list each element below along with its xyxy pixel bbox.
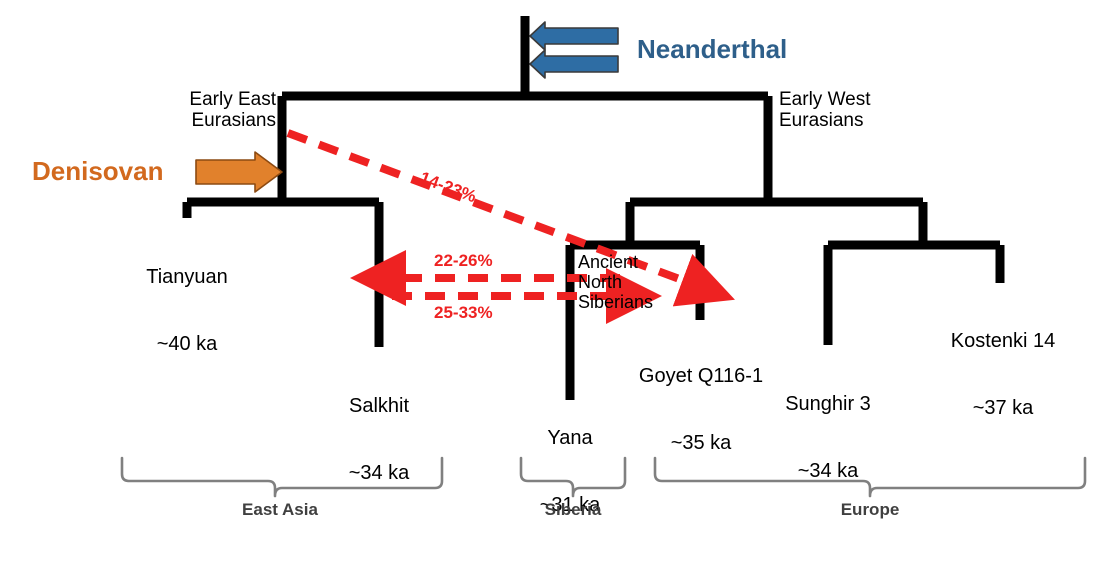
denisovan-arrow-icon: [196, 152, 282, 192]
denisovan-label: Denisovan: [32, 157, 164, 186]
admixture-value-salkhit-to-ans: 25-33%: [434, 303, 493, 322]
admixture-value-ans-to-salkhit: 22-26%: [434, 251, 493, 270]
tip-age-goyet: ~35 ka: [625, 432, 777, 454]
tip-age-kostenki: ~37 ka: [932, 397, 1074, 419]
phylogenetic-tree-figure: Early EastEurasians Early WestEurasians …: [0, 0, 1102, 543]
tip-name-salkhit: Salkhit: [313, 395, 445, 417]
neanderthal-label: Neanderthal: [637, 35, 787, 64]
tip-age-salkhit: ~34 ka: [313, 462, 445, 484]
region-label-east-asia: East Asia: [215, 500, 345, 519]
tip-name-kostenki: Kostenki 14: [932, 330, 1074, 352]
tip-label-yana: Yana ~31 ka: [504, 382, 636, 561]
tree-branches: [187, 16, 1000, 400]
tip-name-tianyuan: Tianyuan: [121, 266, 253, 288]
tip-age-tianyuan: ~40 ka: [121, 333, 253, 355]
tip-name-sunghir: Sunghir 3: [762, 393, 894, 415]
tip-name-yana: Yana: [504, 427, 636, 449]
region-label-europe: Europe: [810, 500, 930, 519]
node-label-early-west-eurasians: Early WestEurasians: [779, 89, 909, 132]
node-label-ancient-north-siberians: AncientNorthSiberians: [578, 252, 668, 312]
tip-age-sunghir: ~34 ka: [762, 460, 894, 482]
region-label-siberia: Siberia: [513, 500, 633, 519]
tip-label-goyet: Goyet Q116-1 ~35 ka: [625, 320, 777, 499]
node-label-early-east-eurasians: Early EastEurasians: [166, 89, 276, 132]
tip-label-tianyuan: Tianyuan ~40 ka: [121, 221, 253, 400]
tip-name-goyet: Goyet Q116-1: [625, 365, 777, 387]
neanderthal-arrow-icon: [530, 22, 618, 78]
tip-label-kostenki: Kostenki 14 ~37 ka: [932, 285, 1074, 464]
